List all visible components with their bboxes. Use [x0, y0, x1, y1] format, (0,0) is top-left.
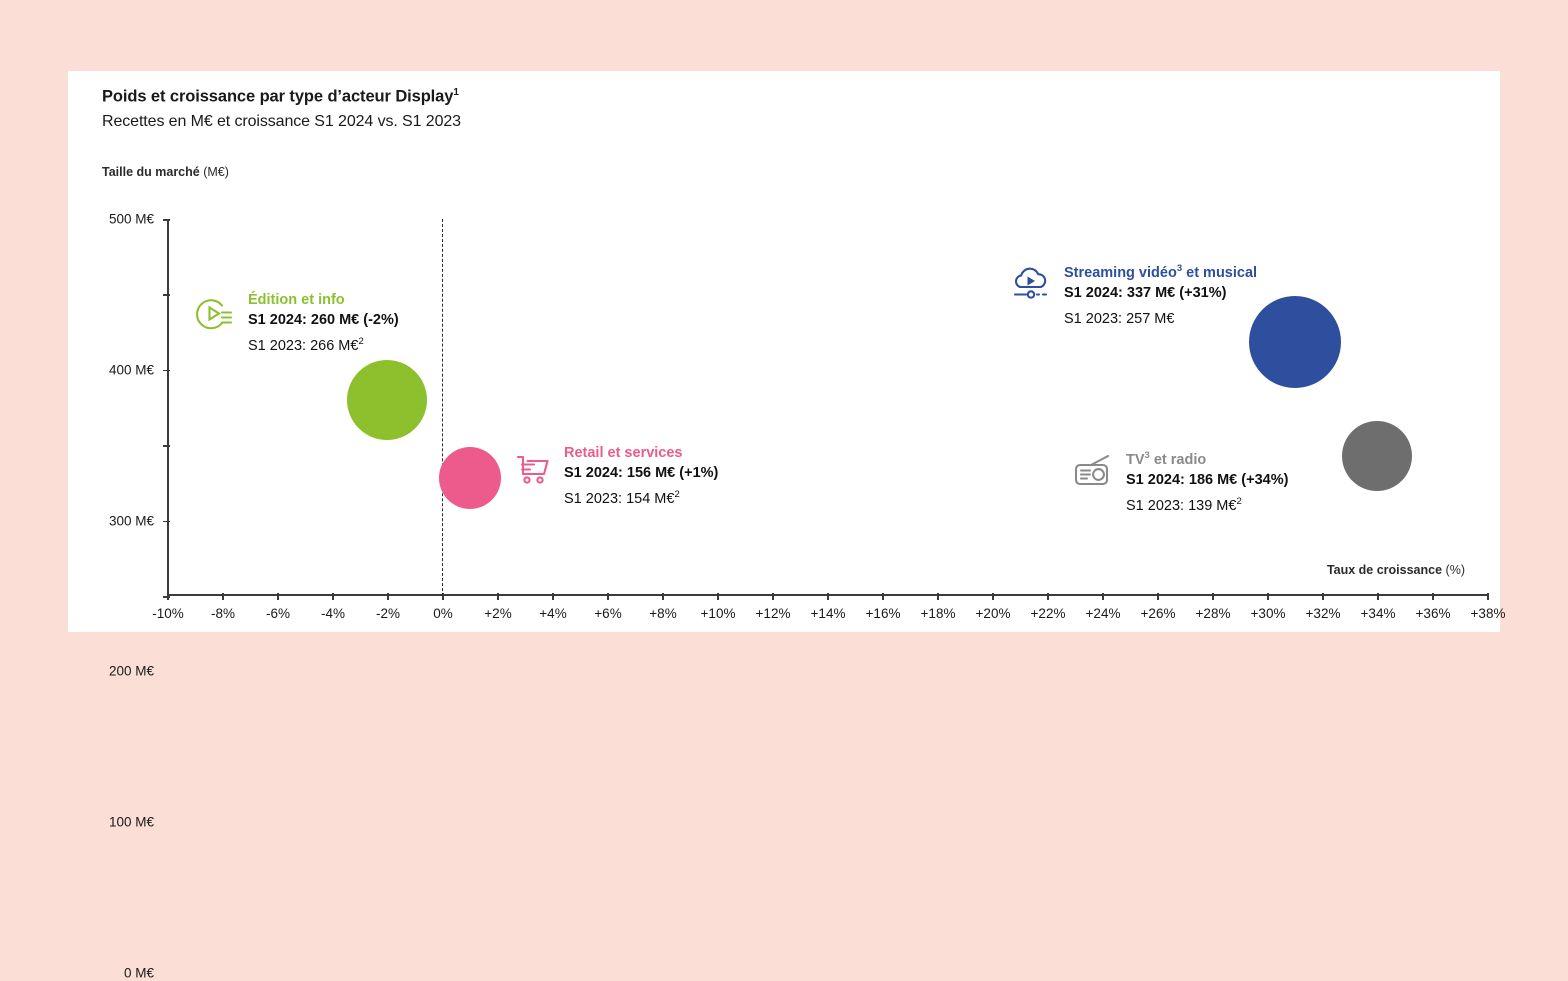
x-axis-tick-label: +20% [976, 606, 1011, 621]
y-axis-tick-label: 500 M€ [109, 212, 154, 227]
x-axis-tick-label: +6% [594, 606, 621, 621]
cloud-play-icon [1008, 261, 1052, 305]
x-axis-tick: +32% [1322, 593, 1324, 600]
x-axis-tick: -10% [167, 593, 169, 600]
series-previous-value: S1 2023: 139 M€2 [1126, 491, 1288, 517]
x-axis-tick-label: +32% [1306, 606, 1341, 621]
series-current-value: S1 2024: 186 M€ (+34%) [1126, 470, 1288, 491]
annotation-text-block: Streaming vidéo3 et musical S1 2024: 337… [1064, 259, 1257, 330]
series-name: Retail et services [564, 443, 718, 463]
page-title: Poids et croissance par type d’acteur Di… [102, 87, 459, 107]
series-previous-value: S1 2023: 154 M€2 [564, 484, 718, 510]
y-axis-tick: 400 M€ [163, 294, 170, 296]
x-axis-tick-label: +8% [649, 606, 676, 621]
y-axis-tick-label: 300 M€ [109, 513, 154, 528]
series-current-value: S1 2024: 337 M€ (+31%) [1064, 283, 1257, 304]
x-axis-tick: -4% [332, 593, 334, 600]
x-axis-tick: +20% [992, 593, 994, 600]
x-axis-tick-label: +10% [701, 606, 736, 621]
bubble-2[interactable] [439, 447, 501, 509]
y-axis-tick: 200 M€ [163, 445, 170, 447]
x-axis-tick: -2% [387, 593, 389, 600]
x-axis-tick-label: +24% [1086, 606, 1121, 621]
bubble-3[interactable] [1249, 296, 1341, 388]
x-axis-tick-label: +38% [1471, 606, 1506, 621]
y-axis-line [167, 219, 169, 596]
x-axis-tick: +30% [1267, 593, 1269, 600]
x-axis-tick-label: +26% [1141, 606, 1176, 621]
y-axis-tick: 500 M€ [163, 219, 170, 221]
x-axis-tick-label: -8% [211, 606, 235, 621]
series-name: Édition et info [248, 290, 399, 310]
x-axis-tick: +22% [1047, 593, 1049, 600]
x-axis-tick: +34% [1377, 593, 1379, 600]
x-axis-tick-label: -10% [152, 606, 184, 621]
bubble-1[interactable] [347, 360, 427, 440]
play-circle-lines-icon [192, 292, 236, 336]
x-axis-tick-label: 0% [433, 606, 453, 621]
x-axis-tick: +26% [1157, 593, 1159, 600]
x-axis-tick: +18% [937, 593, 939, 600]
x-axis-tick-label: +16% [866, 606, 901, 621]
x-axis-tick: +6% [607, 593, 609, 600]
x-axis-tick: +14% [827, 593, 829, 600]
annotation-text-block: TV3 et radio S1 2024: 186 M€ (+34%) S1 2… [1126, 446, 1288, 517]
x-axis-tick-label: +34% [1361, 606, 1396, 621]
y-axis-tick: 300 M€ [163, 370, 170, 372]
series-name: Streaming vidéo3 et musical [1064, 259, 1257, 283]
series-current-value: S1 2024: 156 M€ (+1%) [564, 463, 718, 484]
x-axis-tick: +12% [772, 593, 774, 600]
x-axis-tick-label: +14% [811, 606, 846, 621]
annotation-text-block: Retail et services S1 2024: 156 M€ (+1%)… [564, 443, 718, 510]
y-axis-unit: (M€) [203, 165, 229, 179]
x-axis-tick-label: +36% [1416, 606, 1451, 621]
x-axis-tick: +2% [497, 593, 499, 600]
x-axis-tick-label: +18% [921, 606, 956, 621]
title-footnote-marker: 1 [453, 87, 458, 98]
chart-card: Poids et croissance par type d’acteur Di… [68, 71, 1500, 632]
x-axis-tick-label: +4% [539, 606, 566, 621]
x-axis-tick-label: -4% [321, 606, 345, 621]
x-axis-tick: +16% [882, 593, 884, 600]
x-axis-tick: +4% [552, 593, 554, 600]
bubble-4[interactable] [1342, 421, 1412, 491]
series-current-value: S1 2024: 260 M€ (-2%) [248, 310, 399, 331]
x-axis-tick-label: +22% [1031, 606, 1066, 621]
radio-icon [1070, 448, 1114, 492]
footnote-marker: 2 [1236, 496, 1241, 507]
series-name: TV3 et radio [1126, 446, 1288, 470]
y-axis-tick-label: 100 M€ [109, 815, 154, 830]
series-previous-value: S1 2023: 266 M€2 [248, 331, 399, 357]
y-axis-tick-label: 400 M€ [109, 362, 154, 377]
x-axis-tick: -8% [222, 593, 224, 600]
y-axis-tick: 100 M€ [163, 521, 170, 523]
footnote-marker: 2 [358, 336, 363, 347]
x-axis-tick: +8% [662, 593, 664, 600]
y-axis-tick-label: 200 M€ [109, 664, 154, 679]
x-axis-tick: +28% [1212, 593, 1214, 600]
page-subtitle: Recettes en M€ et croissance S1 2024 vs.… [102, 113, 461, 131]
x-axis-tick-label: +2% [484, 606, 511, 621]
footnote-marker: 2 [674, 489, 679, 500]
plot-area: 0 M€100 M€200 M€300 M€400 M€500 M€ -10%-… [167, 219, 1487, 596]
x-axis-tick-label: +28% [1196, 606, 1231, 621]
y-axis-tick-label: 0 M€ [124, 966, 154, 981]
x-axis-tick: +10% [717, 593, 719, 600]
x-axis-tick: -6% [277, 593, 279, 600]
series-previous-value: S1 2023: 257 M€ [1064, 304, 1257, 330]
x-axis-tick-label: +12% [756, 606, 791, 621]
x-axis-tick-label: -6% [266, 606, 290, 621]
x-axis-tick: +36% [1432, 593, 1434, 600]
zero-growth-reference-line [442, 219, 443, 596]
x-axis-tick: +38% [1487, 593, 1489, 600]
shopping-cart-icon [508, 445, 552, 489]
y-axis-title: Taille du marché (M€) [102, 165, 229, 179]
x-axis-tick: +24% [1102, 593, 1104, 600]
x-axis-tick-label: +30% [1251, 606, 1286, 621]
annotation-text-block: Édition et info S1 2024: 260 M€ (-2%) S1… [248, 290, 399, 357]
x-axis-tick-label: -2% [376, 606, 400, 621]
y-axis-title-text: Taille du marché [102, 165, 200, 179]
